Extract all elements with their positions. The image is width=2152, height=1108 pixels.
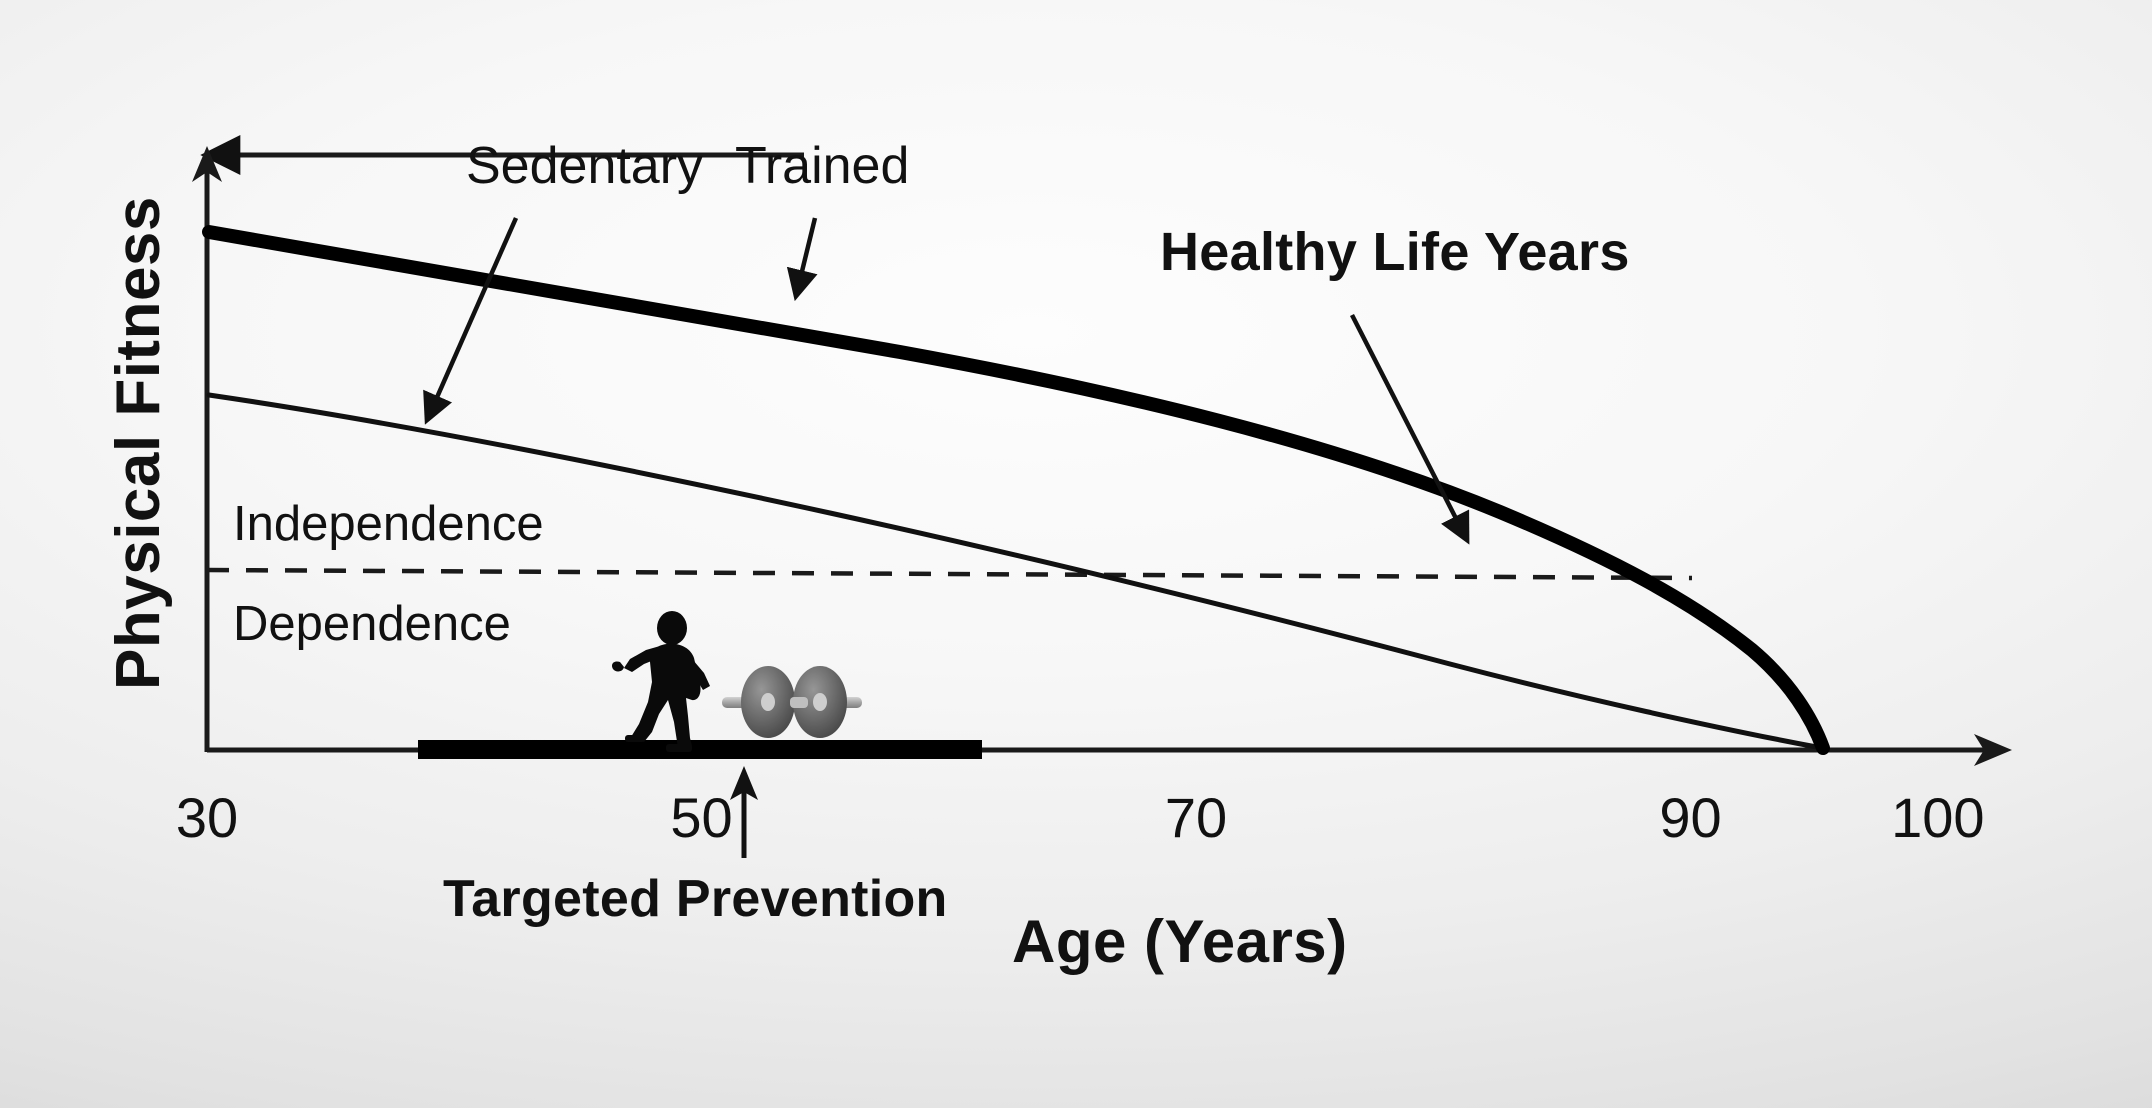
annotation-healthy-life-years: Healthy Life Years — [1160, 225, 1630, 279]
y-axis-title: Physical Fitness — [108, 196, 170, 690]
series-label-sedentary: Sedentary — [466, 140, 703, 192]
chart-canvas: Physical Fitness Age (Years) Sedentary T… — [0, 0, 2152, 1108]
x-axis-title: Age (Years) — [1012, 912, 1348, 972]
dumbbell-icon — [722, 666, 862, 738]
annotation-arrow-sedentary — [427, 218, 516, 420]
zone-label-independence: Independence — [233, 500, 544, 549]
x-tick-label-70: 70 — [1165, 785, 1227, 850]
x-tick-label-30: 30 — [176, 785, 238, 850]
series-line-trained — [209, 232, 1823, 748]
zone-label-dependence: Dependence — [233, 600, 511, 649]
annotation-targeted-prevention: Targeted Prevention — [443, 873, 948, 925]
x-tick-label-100: 100 — [1891, 785, 1984, 850]
annotation-arrow-trained — [796, 218, 815, 296]
series-label-trained: Trained — [735, 140, 909, 192]
runner-icon — [612, 611, 710, 752]
x-tick-label-90: 90 — [1659, 785, 1721, 850]
threshold-dashed-line — [207, 570, 1692, 578]
annotation-arrow-healthy-life-years — [1352, 315, 1467, 540]
intervention-bar — [418, 740, 982, 759]
x-tick-label-50: 50 — [670, 785, 732, 850]
